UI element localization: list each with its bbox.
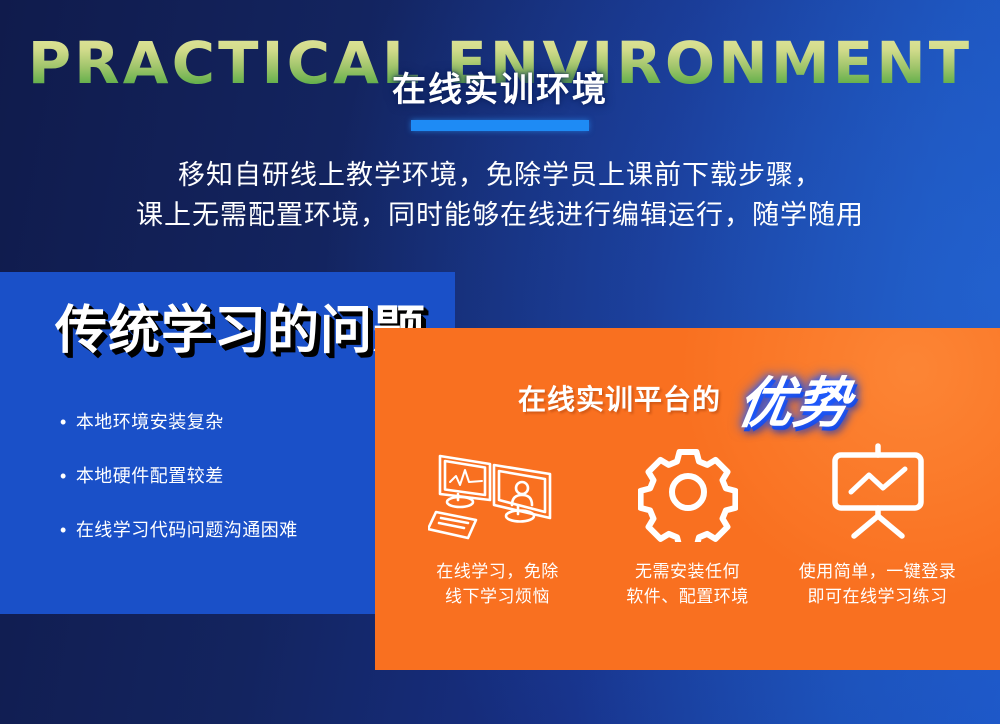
intro-paragraph: 移知自研线上教学环境，免除学员上课前下载步骤， 课上无需配置环境，同时能够在线进… [0, 156, 1000, 236]
title-underline-rule [411, 120, 589, 131]
advantages-feature-row: 在线学习，免除 线下学习烦恼 无需安装任何 软件、配置环境 [375, 440, 1000, 609]
feature-caption: 使用简单，一键登录 即可在线学习练习 [799, 560, 957, 609]
bullet-dot-icon: • [60, 413, 67, 431]
gear-icon [638, 440, 738, 544]
list-item: • 本地环境安装复杂 [60, 408, 298, 434]
list-item-label: 本地环境安装复杂 [76, 408, 224, 434]
presentation-chart-icon [823, 440, 933, 544]
feature-caption: 在线学习，免除 线下学习烦恼 [436, 560, 559, 609]
feature-caption-line-1: 无需安装任何 [626, 560, 749, 585]
feature-caption-line-2: 即可在线学习练习 [799, 585, 957, 610]
intro-line-1: 移知自研线上教学环境，免除学员上课前下载步骤， [0, 156, 1000, 196]
feature-caption-line-1: 使用简单，一键登录 [799, 560, 957, 585]
list-item-label: 在线学习代码问题沟通困难 [76, 516, 298, 542]
page-title: 在线实训环境 [0, 62, 1000, 111]
feature-caption-line-2: 线下学习烦恼 [436, 585, 559, 610]
feature-caption: 无需安装任何 软件、配置环境 [626, 560, 749, 609]
feature-item: 无需安装任何 软件、配置环境 [593, 440, 783, 609]
feature-item: 使用简单，一键登录 即可在线学习练习 [783, 440, 973, 609]
advantages-title-plain: 在线实训平台的 [518, 378, 721, 418]
list-item: • 在线学习代码问题沟通困难 [60, 516, 298, 542]
advantages-panel: 在线实训平台的 优势 [375, 328, 1000, 670]
dual-monitor-workstation-icon [428, 440, 568, 544]
advantages-title-accent: 优势 [733, 358, 864, 438]
list-item: • 本地硬件配置较差 [60, 462, 298, 488]
advantages-panel-title: 在线实训平台的 优势 [375, 358, 1000, 438]
feature-caption-line-2: 软件、配置环境 [626, 585, 749, 610]
bullet-dot-icon: • [60, 521, 67, 539]
problems-panel-title: 传统学习的问题 [55, 288, 426, 363]
intro-line-2: 课上无需配置环境，同时能够在线进行编辑运行，随学随用 [0, 196, 1000, 236]
feature-caption-line-1: 在线学习，免除 [436, 560, 559, 585]
bullet-dot-icon: • [60, 467, 67, 485]
feature-item: 在线学习，免除 线下学习烦恼 [403, 440, 593, 609]
list-item-label: 本地硬件配置较差 [76, 462, 224, 488]
slide-root: PRACTICAL ENVIRONMENT 在线实训环境 移知自研线上教学环境，… [0, 0, 1000, 724]
problems-bullet-list: • 本地环境安装复杂 • 本地硬件配置较差 • 在线学习代码问题沟通困难 [60, 408, 298, 570]
